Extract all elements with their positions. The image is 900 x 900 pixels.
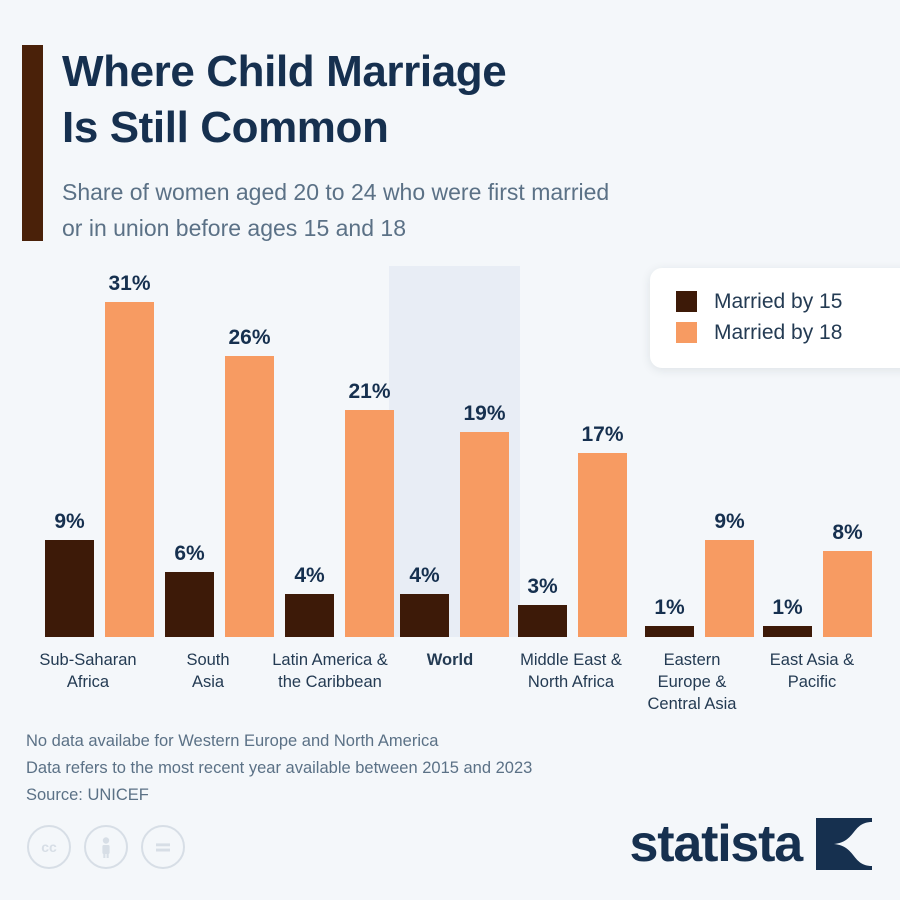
- legend-label: Married by 18: [714, 321, 842, 345]
- bar: [345, 410, 394, 637]
- legend-item[interactable]: Married by 18: [676, 317, 900, 348]
- bar-value-label: 4%: [400, 564, 449, 588]
- category-label: East Asia &Pacific: [732, 650, 892, 694]
- bar-value-label: 6%: [165, 542, 214, 566]
- statista-logo-mark: [816, 818, 872, 870]
- bar: [45, 540, 94, 637]
- bar-value-label: 9%: [45, 510, 94, 534]
- bar-value-label: 1%: [645, 596, 694, 620]
- bar-value-label: 4%: [285, 564, 334, 588]
- legend-swatch: [676, 322, 697, 343]
- bar-value-label: 8%: [823, 521, 872, 545]
- bar-value-label: 19%: [460, 402, 509, 426]
- bar: [763, 626, 812, 637]
- bar: [705, 540, 754, 637]
- chart-legend: Married by 15Married by 18: [650, 268, 900, 368]
- bar: [460, 432, 509, 637]
- legend-label: Married by 15: [714, 290, 842, 314]
- bar: [285, 594, 334, 637]
- category-label-line: Central Asia: [612, 694, 772, 716]
- bar: [823, 551, 872, 637]
- category-label-line: Pacific: [732, 672, 892, 694]
- legend-item[interactable]: Married by 15: [676, 286, 900, 317]
- creative-commons-icon[interactable]: cc: [27, 825, 71, 869]
- bar: [105, 302, 154, 637]
- svg-text:cc: cc: [41, 839, 57, 855]
- bar-value-label: 17%: [578, 423, 627, 447]
- source-line: Source: UNICEF: [26, 782, 532, 809]
- statista-logo: statista: [630, 818, 872, 870]
- bar: [225, 356, 274, 637]
- category-label-line: the Caribbean: [250, 672, 410, 694]
- bar: [645, 626, 694, 637]
- no-derivatives-equals-icon[interactable]: [141, 825, 185, 869]
- creative-commons-license-icons: cc: [27, 825, 185, 869]
- footnote-line-2: Data refers to the most recent year avai…: [26, 755, 532, 782]
- footnotes: No data availabe for Western Europe and …: [26, 728, 532, 809]
- bar: [518, 605, 567, 637]
- bar-value-label: 21%: [345, 380, 394, 404]
- attribution-person-icon[interactable]: [84, 825, 128, 869]
- bar-value-label: 31%: [105, 272, 154, 296]
- bar-value-label: 1%: [763, 596, 812, 620]
- legend-swatch: [676, 291, 697, 312]
- footnote-line-1: No data availabe for Western Europe and …: [26, 728, 532, 755]
- bar: [578, 453, 627, 637]
- bar: [400, 594, 449, 637]
- category-label-line: East Asia &: [732, 650, 892, 672]
- bar-value-label: 3%: [518, 575, 567, 599]
- bar-value-label: 9%: [705, 510, 754, 534]
- statista-wordmark: statista: [630, 818, 802, 870]
- bar: [165, 572, 214, 637]
- bar-value-label: 26%: [225, 326, 274, 350]
